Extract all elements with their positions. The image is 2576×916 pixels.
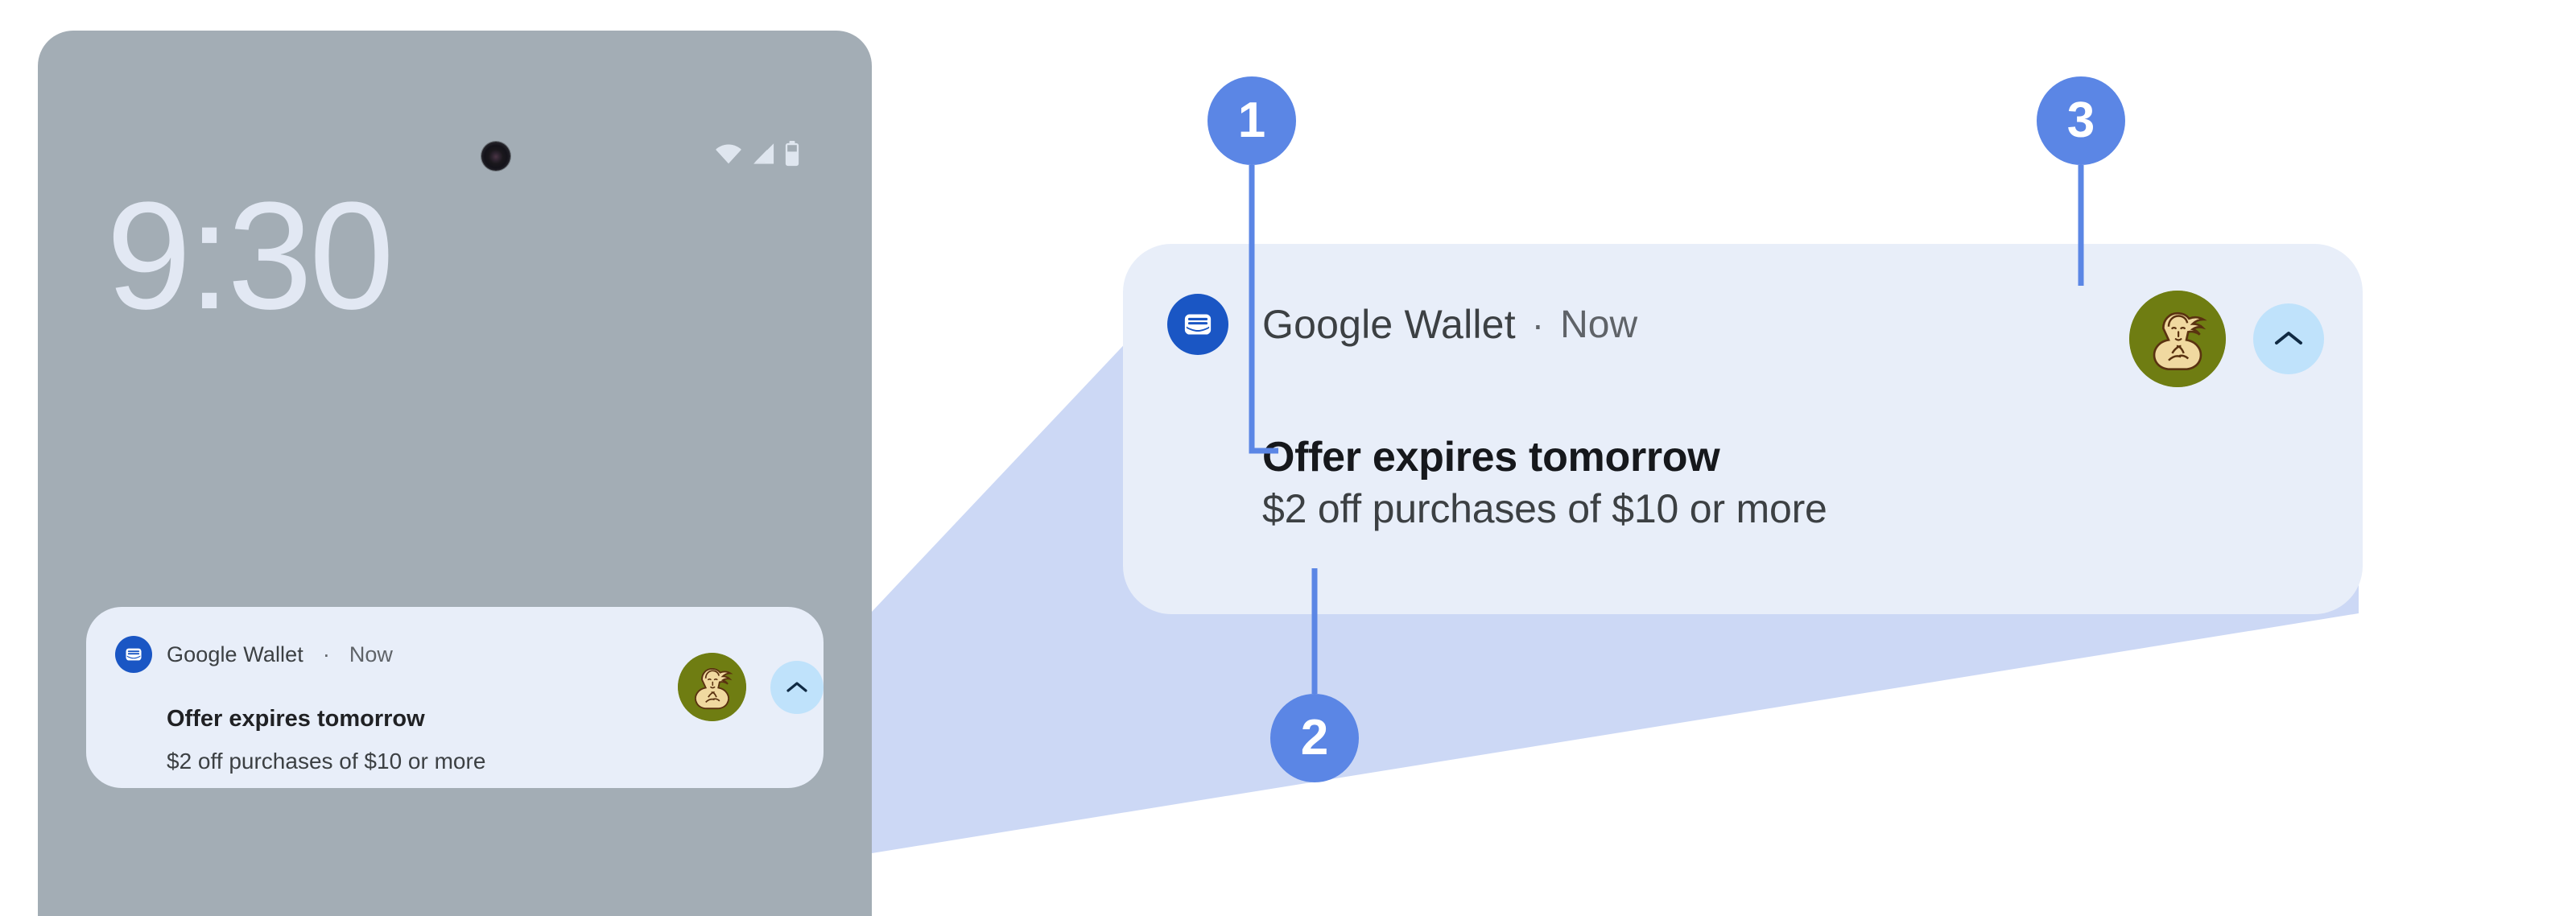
merchant-logo-avatar-small xyxy=(678,653,746,721)
google-wallet-icon xyxy=(115,636,152,673)
notification-separator-small: · xyxy=(318,642,335,667)
front-camera-punch-hole-icon xyxy=(481,142,510,171)
google-wallet-icon-large xyxy=(1167,294,1228,355)
notification-body-large: $2 off purchases of $10 or more xyxy=(1262,485,1827,532)
callout-badge-1[interactable]: 1 xyxy=(1207,76,1296,165)
lockscreen-clock: 9:30 xyxy=(106,179,391,332)
notification-timestamp-small: Now xyxy=(349,642,393,667)
expand-notification-button-small[interactable] xyxy=(770,661,824,714)
notification-app-name-small: Google Wallet xyxy=(167,642,303,667)
notification-timestamp-large: Now xyxy=(1560,303,1637,347)
cellular-signal-icon xyxy=(750,142,776,166)
notification-title-large: Offer expires tomorrow xyxy=(1262,433,1719,481)
notification-separator-large: · xyxy=(1532,303,1544,346)
chevron-up-icon xyxy=(785,679,809,695)
wifi-icon xyxy=(714,142,743,166)
phone-status-bar xyxy=(38,31,872,192)
callout-badge-3[interactable]: 3 xyxy=(2037,76,2125,165)
expand-notification-button-large[interactable] xyxy=(2253,303,2324,374)
battery-icon xyxy=(783,141,801,167)
notification-header-small: Google Wallet · Now xyxy=(115,636,393,673)
callout-badge-2[interactable]: 2 xyxy=(1270,694,1359,782)
notification-body-small: $2 off purchases of $10 or more xyxy=(167,749,485,774)
notification-trailing-small xyxy=(678,653,824,721)
notification-card-large[interactable]: Google Wallet · Now Offer expires tomorr… xyxy=(1123,244,2363,614)
figure-canvas: 9:30 Google Wallet · Now Offer expires xyxy=(0,0,2576,863)
notification-app-name-large: Google Wallet xyxy=(1262,301,1516,348)
notification-trailing-large xyxy=(2129,291,2324,387)
notification-header-large: Google Wallet · Now xyxy=(1167,294,1637,355)
chevron-up-icon-large xyxy=(2272,328,2306,350)
merchant-logo-avatar-large xyxy=(2129,291,2226,387)
status-bar-icons xyxy=(714,141,801,167)
phone-mockup: 9:30 Google Wallet · Now Offer expires xyxy=(38,31,872,916)
notification-title-small: Offer expires tomorrow xyxy=(167,706,425,732)
